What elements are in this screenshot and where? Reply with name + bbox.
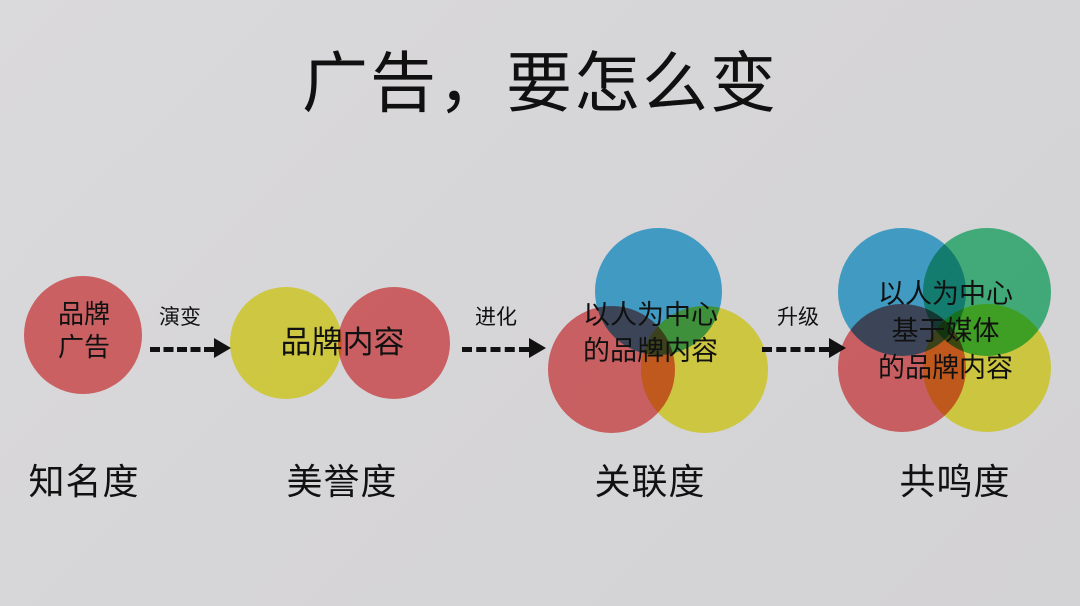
stage-label-1: 知名度 [4,460,164,506]
arrow-2 [462,330,550,370]
arrow-1-head [214,338,231,358]
arrow-1-shaft [150,347,214,352]
arrow-1 [150,330,235,370]
venn-group-1 [24,276,144,396]
stage-label-4: 共鸣度 [875,460,1035,506]
circle-yellow [923,304,1051,432]
venn-group-3 [548,228,753,433]
venn-group-4 [838,228,1053,433]
circle-red [24,276,142,394]
arrow-2-shaft [462,347,529,352]
stage-label-3: 关联度 [570,460,730,506]
arrow-3-shaft [762,347,829,352]
arrow-2-caption: 进化 [468,305,524,329]
slide-canvas: 广告，要怎么变 品牌 广告 演变 品牌内容 进化 [0,0,1080,606]
arrow-3 [762,330,850,370]
circle-yellow [641,306,768,433]
arrow-1-caption: 演变 [152,305,208,329]
venn-group-2 [230,287,455,402]
stage-label-2: 美誉度 [262,460,422,506]
arrow-2-head [529,338,546,358]
diagram-stage: 品牌 广告 演变 品牌内容 进化 以人为中心 [0,0,1080,606]
circle-red [338,287,450,399]
circle-yellow [230,287,342,399]
arrow-3-caption: 升级 [770,305,826,329]
